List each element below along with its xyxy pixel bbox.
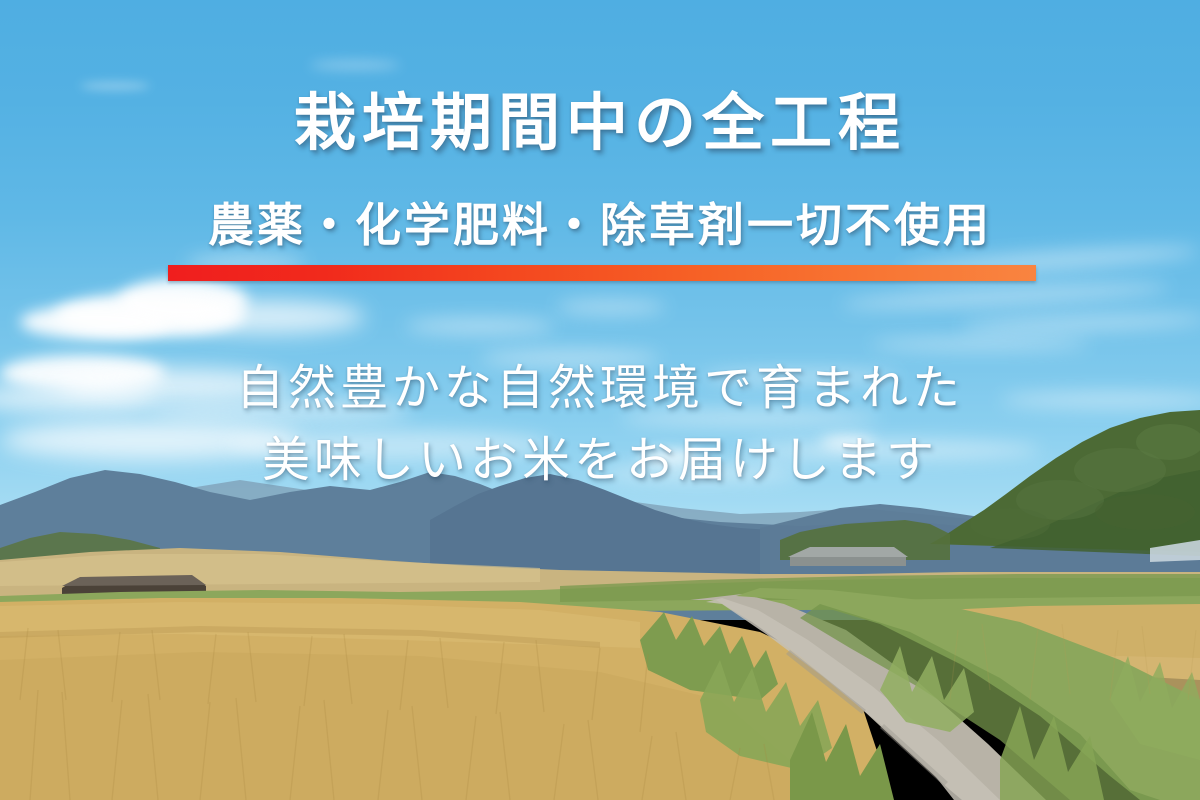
hero-subtitle: 農薬・化学肥料・除草剤一切不使用 [0,198,1200,254]
gradient-divider-rule [168,265,1036,281]
hero-body-line-2: 美味しいお米をお届けします [0,432,1200,490]
hero-body-line-1: 自然豊かな自然環境で育まれた [0,360,1200,418]
page-title: 栽培期間中の全工程 [0,88,1200,160]
hero-banner: 栽培期間中の全工程 農薬・化学肥料・除草剤一切不使用 自然豊かな自然環境で育まれ… [0,0,1200,800]
